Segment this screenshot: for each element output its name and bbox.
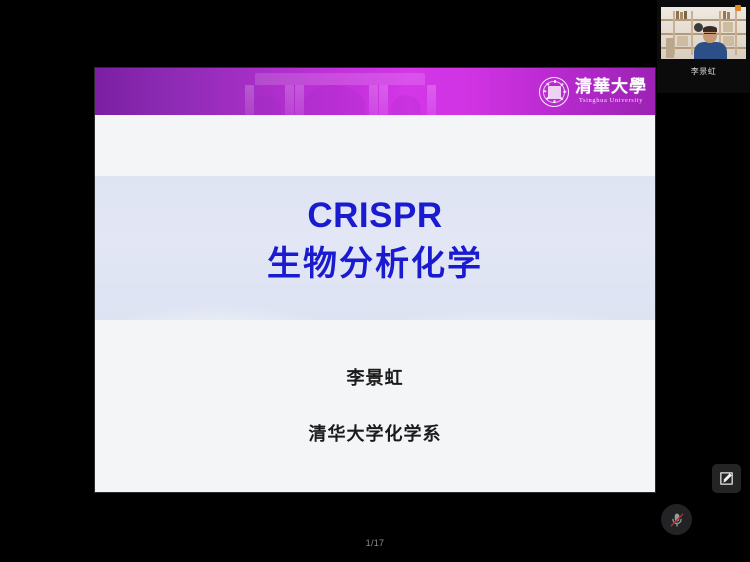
slide-page-indicator: 1/17 <box>0 538 750 548</box>
pen-icon <box>718 470 735 487</box>
webcam-thumbnail-panel[interactable]: 李景虹 <box>657 0 750 93</box>
tsinghua-name-cn: 清華大學 <box>575 79 647 96</box>
webcam-person-body <box>694 42 727 59</box>
annotate-button[interactable] <box>712 464 741 493</box>
slide-title-chinese: 生物分析化学 <box>95 243 655 286</box>
microphone-mute-button[interactable] <box>661 504 692 535</box>
tsinghua-seal-icon <box>539 77 569 107</box>
webcam-person-glasses <box>704 33 716 37</box>
webcam-video-feed[interactable] <box>661 7 746 59</box>
slide-author-affiliation: 清华大学化学系 <box>95 420 655 446</box>
tsinghua-university-logo: 清華大學 Tsinghua University <box>539 72 647 112</box>
slide-header-banner: 清華大學 Tsinghua University <box>95 68 655 115</box>
slide-title-english: CRISPR <box>95 196 655 235</box>
tsinghua-gate-watermark <box>245 68 475 115</box>
slide-title-group: CRISPR 生物分析化学 <box>95 196 655 286</box>
slide-byline-group: 李景虹 清华大学化学系 <box>95 364 655 446</box>
webcam-participant-name: 李景虹 <box>657 66 750 77</box>
tsinghua-wordmark: 清華大學 Tsinghua University <box>575 79 647 105</box>
slide-author-name: 李景虹 <box>95 364 655 390</box>
webcam-person-hair <box>703 26 717 32</box>
presentation-viewer-stage: 清華大學 Tsinghua University CRISPR 生物分析化学 李… <box>0 0 750 562</box>
recording-indicator-icon <box>735 5 741 11</box>
slide-canvas[interactable]: 清華大學 Tsinghua University CRISPR 生物分析化学 李… <box>95 68 655 492</box>
microphone-muted-icon <box>668 511 686 529</box>
tsinghua-name-en: Tsinghua University <box>579 98 643 105</box>
